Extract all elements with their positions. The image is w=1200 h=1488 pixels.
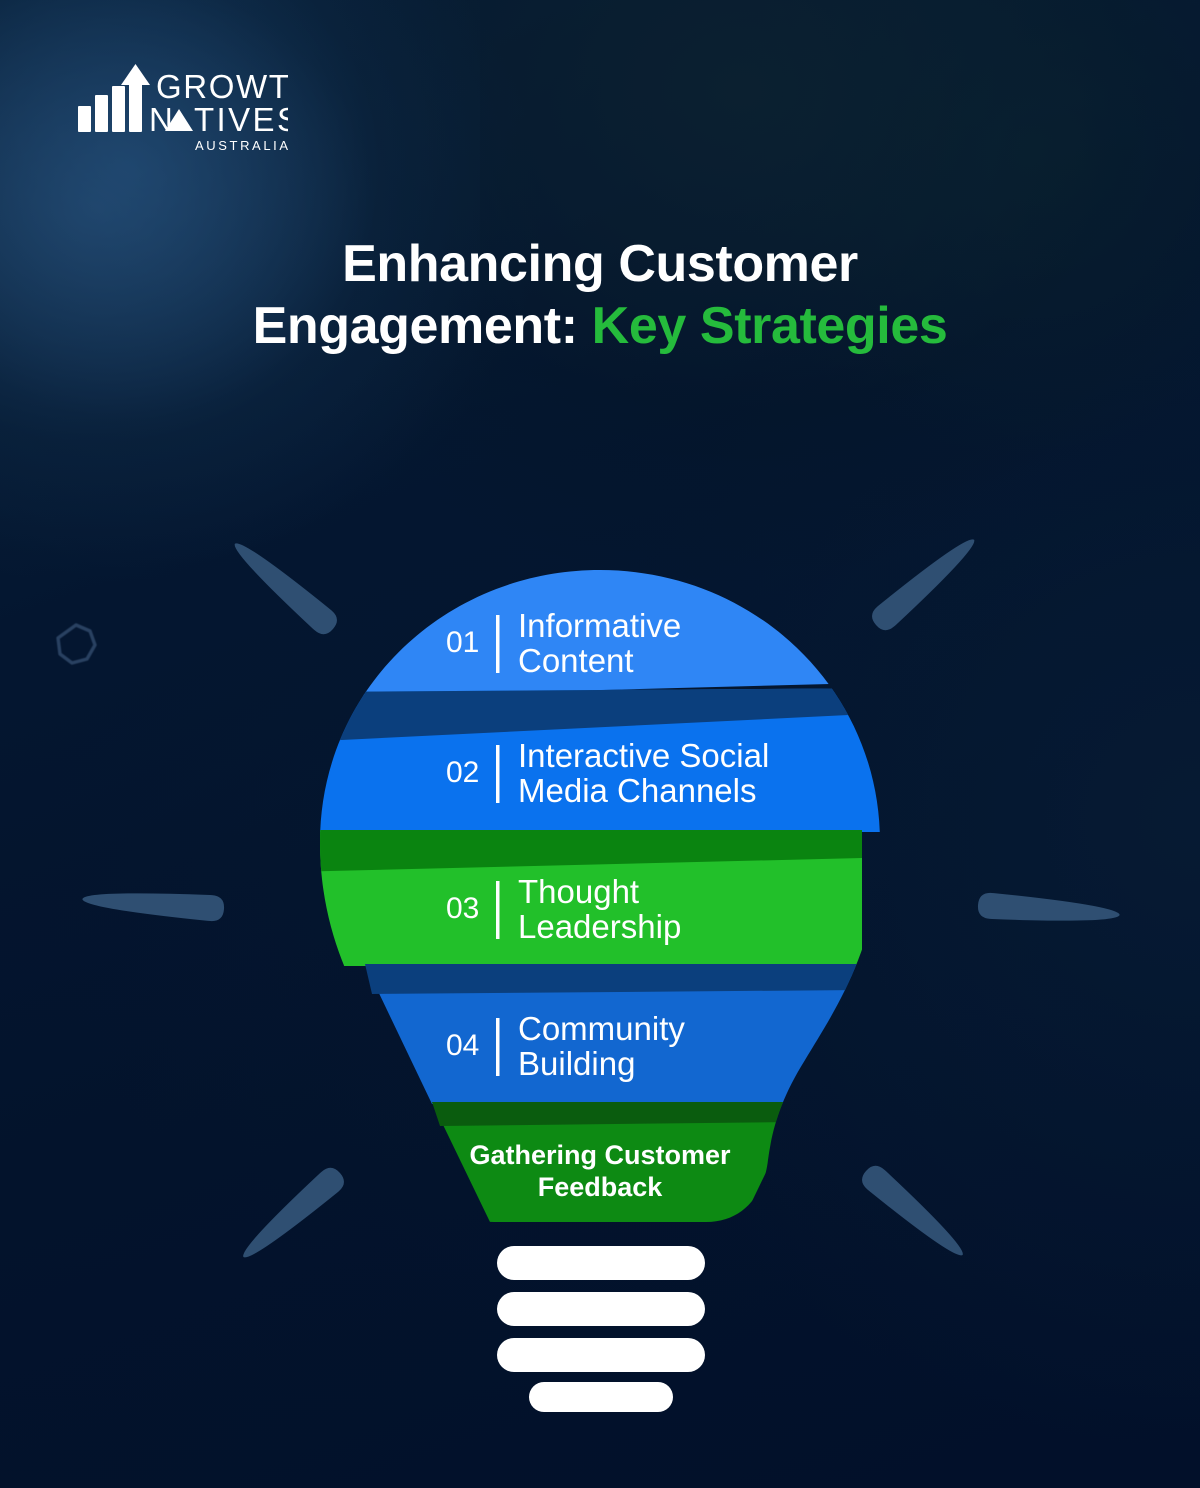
funnel-band-2-number: 02 — [446, 756, 479, 789]
funnel-band-2-label-line1: Interactive Social — [518, 737, 769, 774]
funnel-band-1-number: 01 — [446, 626, 479, 659]
band-3-divider — [496, 881, 500, 939]
funnel-band-5-label-line1: Gathering Customer — [469, 1140, 731, 1170]
band-1-divider — [496, 615, 500, 673]
funnel-band-1-label-line2: Content — [518, 642, 634, 679]
funnel-band-3-label-line1: Thought — [518, 873, 639, 910]
bulb-base-bar-2 — [497, 1292, 705, 1326]
funnel-band-4-label-line1: Community — [518, 1010, 685, 1047]
bulb-base-bar-4 — [529, 1382, 673, 1412]
band-2-divider — [496, 745, 500, 803]
funnel-band-3-number: 03 — [446, 892, 479, 925]
lightbulb-funnel-diagram: 01 Informative Content 02 Interactive So… — [0, 0, 1200, 1488]
funnel-band-4-number: 04 — [446, 1029, 479, 1062]
funnel-band-3-label-line2: Leadership — [518, 908, 681, 945]
funnel-band-4-label-line2: Building — [518, 1045, 635, 1082]
bulb-base — [497, 1246, 705, 1412]
funnel-band-1-label-line1: Informative — [518, 607, 681, 644]
band-4-divider — [496, 1018, 500, 1076]
funnel-band-2-label-line2: Media Channels — [518, 772, 756, 809]
bulb-base-bar-1 — [497, 1246, 705, 1280]
bulb-base-bar-3 — [497, 1338, 705, 1372]
funnel-band-5-label-line2: Feedback — [538, 1172, 664, 1202]
